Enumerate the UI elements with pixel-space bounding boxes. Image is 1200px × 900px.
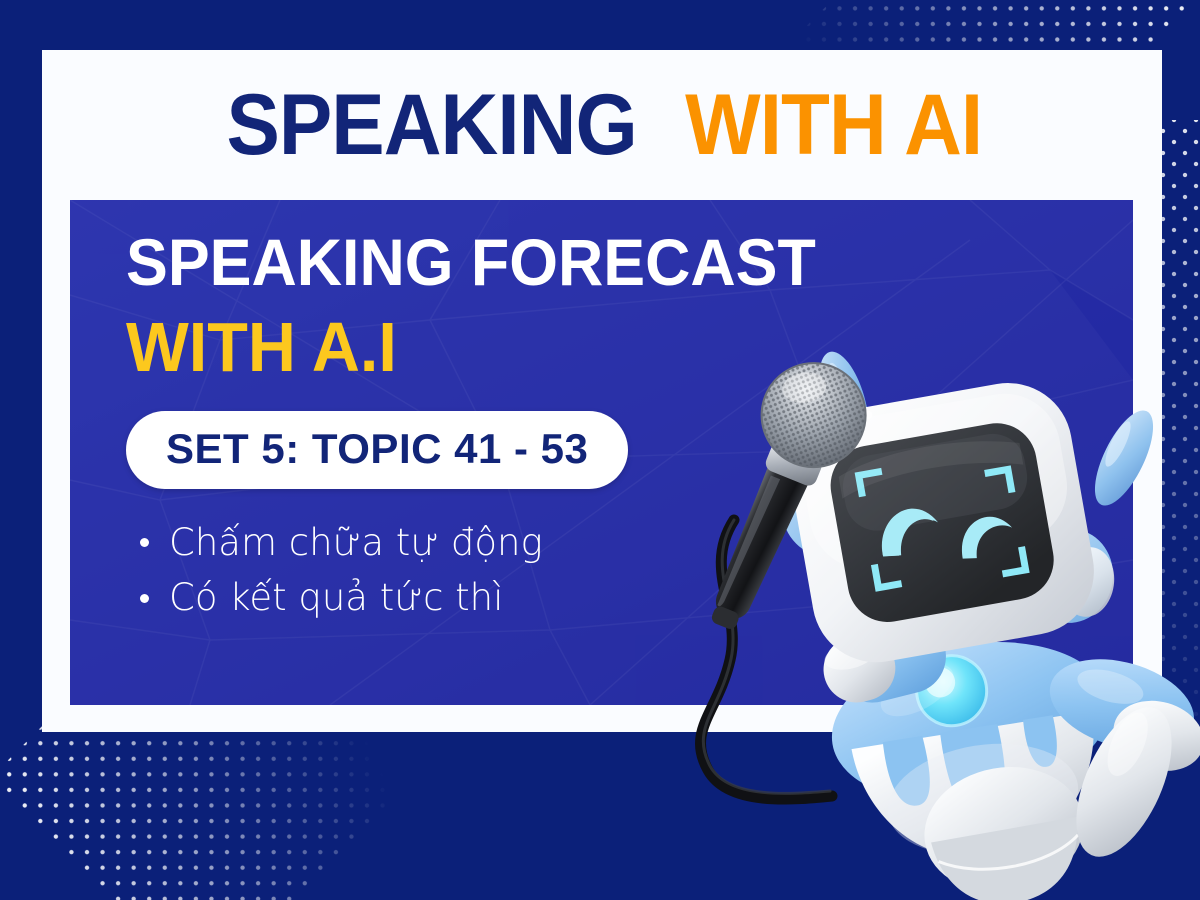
main-title-navy-part: SPEAKING (226, 82, 636, 168)
main-title: SPEAKING WITH AI (42, 50, 1162, 200)
feature-bullet-list: Chấm chữa tự động Có kết quả tức thì (140, 515, 852, 626)
panel-heading-line-2: WITH A.I (126, 311, 816, 385)
bullet-text: Chấm chữa tự động (169, 515, 543, 571)
panel-heading-line-1: SPEAKING FORECAST (126, 228, 816, 297)
bullet-dot-icon (140, 538, 149, 547)
poster-canvas: SPEAKING WITH AI (0, 0, 1200, 900)
main-title-orange-part: WITH AI (685, 82, 982, 168)
list-item: Chấm chữa tự động (140, 515, 852, 571)
panel-content: SPEAKING FORECAST WITH A.I SET 5: TOPIC … (70, 200, 852, 626)
set-topic-badge[interactable]: SET 5: TOPIC 41 - 53 (126, 411, 628, 489)
blue-content-panel: SPEAKING FORECAST WITH A.I SET 5: TOPIC … (70, 200, 1133, 705)
list-item: Có kết quả tức thì (140, 570, 852, 626)
bullet-dot-icon (140, 594, 149, 603)
bullet-text: Có kết quả tức thì (169, 570, 503, 626)
set-topic-badge-label: SET 5: TOPIC 41 - 53 (166, 425, 588, 473)
